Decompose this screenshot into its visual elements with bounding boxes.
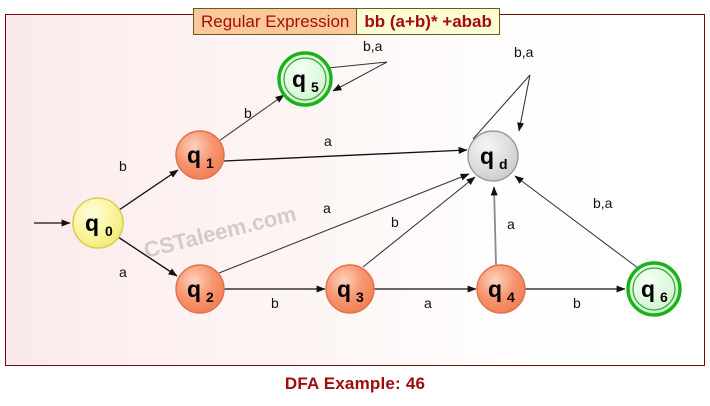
edge-q3-qd (363, 177, 475, 267)
watermark: CSTaleem.com (141, 201, 299, 263)
dfa-diagram-panel: CSTaleem.com b a b a b a (5, 14, 705, 366)
state-q6[interactable]: q 6 (628, 263, 680, 315)
edge-label-q2-qd: a (323, 200, 331, 216)
watermark-label: CSTaleem.com (141, 201, 299, 263)
state-q4[interactable]: q 4 (477, 265, 525, 313)
footer-caption: DFA Example: 46 (0, 374, 710, 394)
edge-label-q5-self: b,a (363, 38, 383, 54)
state-qd-subscript: d (499, 156, 508, 172)
state-q3-subscript: 3 (356, 289, 364, 305)
edge-label-q1-qd: a (324, 133, 332, 149)
edge-label-q0-q2: a (119, 264, 127, 280)
state-q0[interactable]: q 0 (73, 198, 123, 248)
edge-label-q3-q4: a (424, 295, 432, 311)
edge-q1-qd (224, 150, 467, 161)
state-q1-label: q (187, 142, 201, 168)
edge-label-q6-qd: b,a (593, 195, 613, 211)
edge-label-q1-q5: b (244, 105, 252, 121)
edge-label-q3-qd: b (391, 214, 399, 230)
dfa-graph-canvas: CSTaleem.com b a b a b a (6, 15, 705, 366)
regular-expression-header: Regular Expression bb (a+b)* +abab (193, 8, 500, 35)
state-q3-label: q (337, 276, 351, 302)
state-q6-subscript: 6 (660, 289, 668, 305)
edge-label-q4-q6: b (573, 295, 581, 311)
edge-q0-q1 (119, 170, 178, 210)
state-q5-label: q (292, 66, 306, 92)
self-loop-q5 (328, 62, 387, 91)
state-q6-label: q (641, 276, 655, 302)
regular-expression-value: bb (a+b)* +abab (356, 9, 499, 34)
edge-label-qd-self: b,a (514, 44, 534, 60)
edge-label-q4-qd: a (507, 216, 515, 232)
states-group: q 0 q 1 q 2 q 3 (73, 53, 680, 315)
state-qd-label: q (480, 143, 494, 169)
state-q2-label: q (187, 276, 201, 302)
state-q3[interactable]: q 3 (326, 265, 374, 313)
state-q1-subscript: 1 (206, 155, 214, 171)
edge-q6-qd (515, 176, 638, 268)
state-q5-subscript: 5 (311, 79, 319, 95)
state-qd[interactable]: q d (468, 131, 518, 181)
edge-label-q2-q3: b (271, 295, 279, 311)
state-q0-label: q (85, 210, 99, 236)
state-q1[interactable]: q 1 (176, 131, 224, 179)
regular-expression-label: Regular Expression (194, 9, 356, 34)
self-loop-qd (473, 75, 530, 139)
state-q4-subscript: 4 (507, 289, 515, 305)
state-q2-subscript: 2 (206, 289, 214, 305)
state-q2[interactable]: q 2 (176, 265, 224, 313)
state-q0-subscript: 0 (105, 223, 113, 239)
edge-label-q0-q1: b (119, 158, 127, 174)
state-q4-label: q (488, 276, 502, 302)
state-q5[interactable]: q 5 (279, 53, 331, 105)
edge-q4-qd (494, 187, 496, 265)
